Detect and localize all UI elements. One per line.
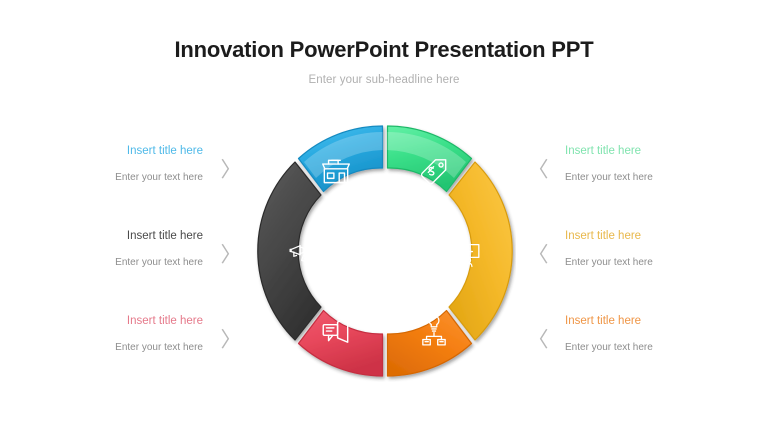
- label-subtitle-bottom-left: Enter your text here: [13, 341, 203, 354]
- label-subtitle-bottom-right: Enter your text here: [565, 341, 755, 354]
- chevron-right-icon-middle-left: 〉: [221, 245, 242, 266]
- donut-segment-middle-left[interactable]: [258, 162, 321, 340]
- label-block-bottom-left[interactable]: Insert title here Enter your text here: [13, 314, 203, 354]
- infographic-diagram: Insert title here Enter your text here 〉…: [0, 112, 768, 412]
- label-subtitle-top-left: Enter your text here: [13, 171, 203, 184]
- label-subtitle-middle-left: Enter your text here: [13, 256, 203, 269]
- label-title-bottom-left: Insert title here: [13, 314, 203, 328]
- label-title-top-right: Insert title here: [565, 144, 755, 158]
- page-subtitle: Enter your sub-headline here: [0, 62, 768, 86]
- label-subtitle-top-right: Enter your text here: [565, 171, 755, 184]
- chevron-right-icon-bottom-left: 〉: [221, 330, 242, 351]
- label-block-top-right[interactable]: Insert title here Enter your text here: [565, 144, 755, 184]
- label-block-middle-right[interactable]: Insert title here Enter your text here: [565, 229, 755, 269]
- slide-canvas: Innovation PowerPoint Presentation PPT E…: [0, 0, 768, 432]
- label-title-middle-left: Insert title here: [13, 229, 203, 243]
- label-subtitle-middle-right: Enter your text here: [565, 256, 755, 269]
- donut-segment-middle-right[interactable]: [449, 162, 512, 340]
- chevron-left-icon-middle-right: 〈: [528, 245, 549, 266]
- slide-header: Innovation PowerPoint Presentation PPT E…: [0, 0, 768, 86]
- label-block-bottom-right[interactable]: Insert title here Enter your text here: [565, 314, 755, 354]
- page-title: Innovation PowerPoint Presentation PPT: [0, 0, 768, 62]
- label-block-middle-left[interactable]: Insert title here Enter your text here: [13, 229, 203, 269]
- chevron-left-icon-bottom-right: 〈: [528, 330, 549, 351]
- chevron-left-icon-top-right: 〈: [528, 160, 549, 181]
- label-title-bottom-right: Insert title here: [565, 314, 755, 328]
- label-title-middle-right: Insert title here: [565, 229, 755, 243]
- donut-chart: [254, 120, 516, 382]
- chevron-right-icon-top-left: 〉: [221, 160, 242, 181]
- label-block-top-left[interactable]: Insert title here Enter your text here: [13, 144, 203, 184]
- label-title-top-left: Insert title here: [13, 144, 203, 158]
